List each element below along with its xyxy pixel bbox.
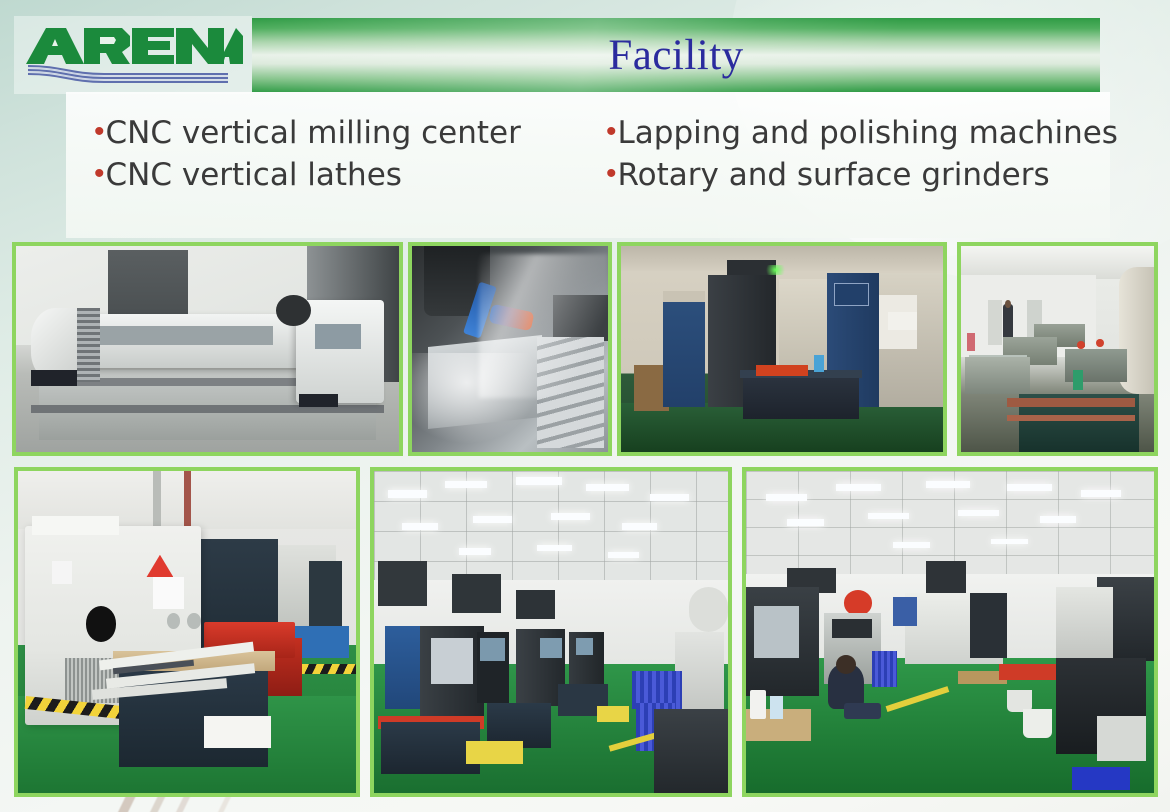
photo-content [961,246,1154,452]
photo-cnc-lathe-worktable[interactable] [14,467,360,797]
bullet-label: CNC vertical milling center [106,118,521,149]
bullet-column-left: • CNC vertical milling center • CNC vert… [94,118,606,238]
bullet-dot-icon: • [94,165,105,183]
photo-content [621,246,943,452]
photo-content [16,246,399,452]
photo-content [412,246,608,452]
photo-plating-tank-line[interactable] [957,242,1158,456]
bullet-label: CNC vertical lathes [106,160,402,191]
list-item: • CNC vertical milling center [94,118,606,149]
list-item: • CNC vertical lathes [94,160,606,191]
bullet-label: Lapping and polishing machines [618,118,1118,149]
page-title: Facility [608,31,743,80]
photo-content [746,471,1154,793]
bullet-dot-icon: • [606,123,617,141]
bullet-column-right: • Lapping and polishing machines • Rotar… [606,118,1106,238]
company-logo[interactable] [14,16,252,94]
photo-machining-coolant-spray[interactable] [408,242,612,456]
photo-cnc-machine-row[interactable] [617,242,947,456]
list-item: • Lapping and polishing machines [606,118,1106,149]
slide-canvas: Facility • CNC vertical milling center •… [0,0,1170,812]
bullet-dot-icon: • [94,123,105,141]
arena-logo-icon [22,24,244,86]
bullets-panel: • CNC vertical milling center • CNC vert… [66,92,1110,238]
list-item: • Rotary and surface grinders [606,160,1106,191]
title-banner: Facility [252,18,1100,92]
photo-workshop-operator[interactable] [742,467,1158,797]
photo-cnc-milling-bed[interactable] [12,242,403,456]
bullet-dot-icon: • [606,165,617,183]
bullet-label: Rotary and surface grinders [618,160,1050,191]
photo-content [374,471,728,793]
photo-machine-shop-floor[interactable] [370,467,732,797]
photo-content [18,471,356,793]
